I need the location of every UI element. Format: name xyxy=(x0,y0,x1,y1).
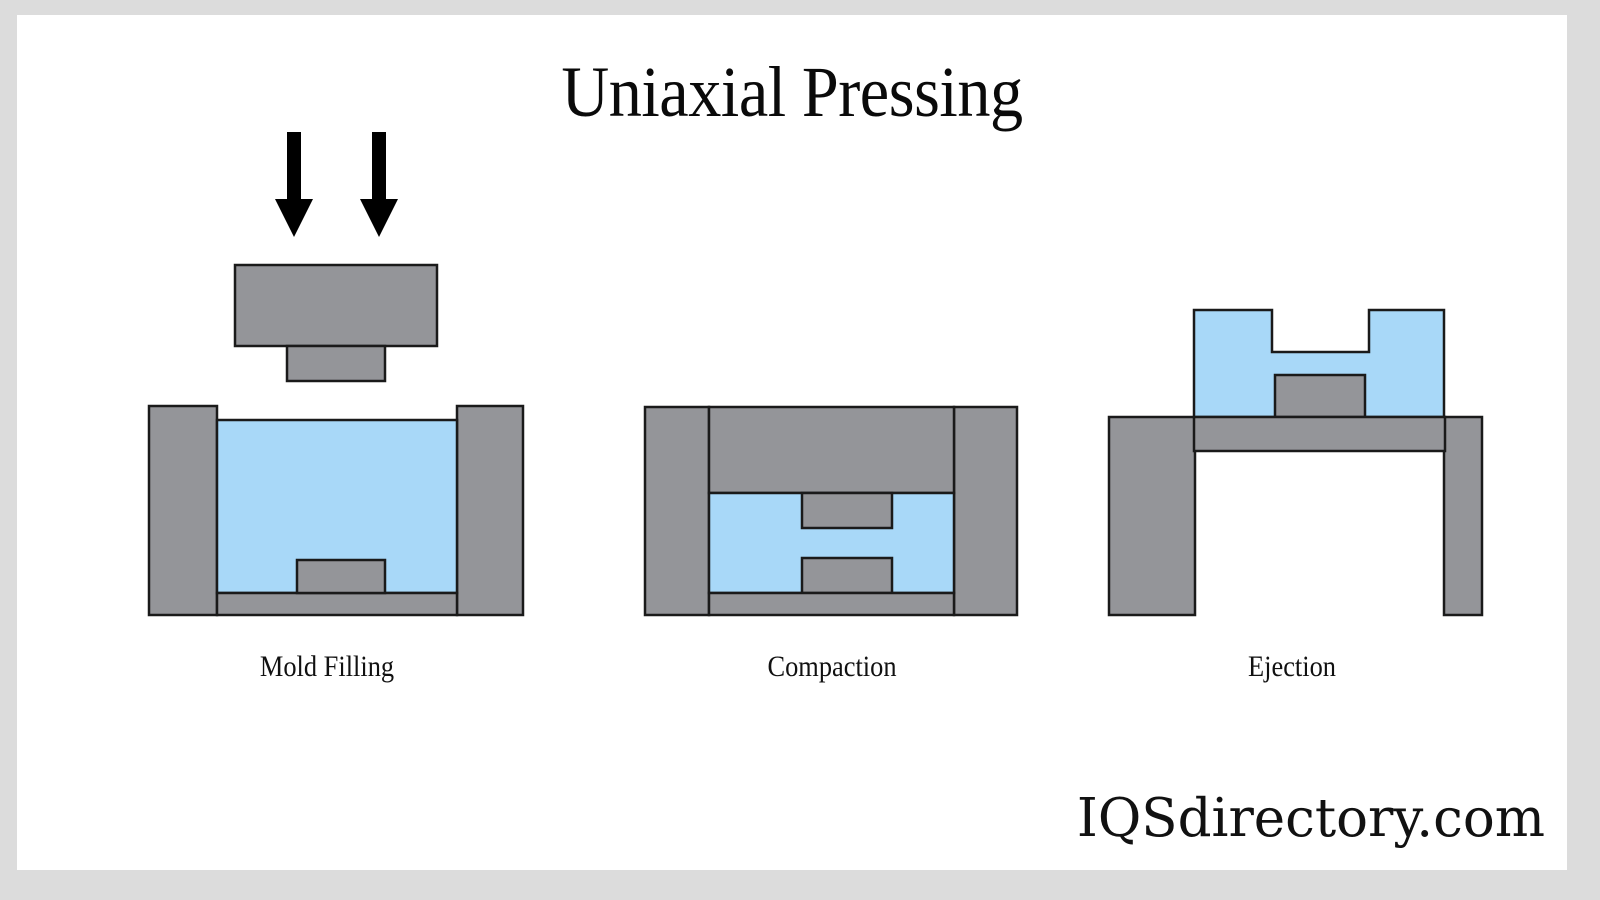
caption-compaction: Compaction xyxy=(634,650,1030,684)
caption-mold-filling: Mold Filling xyxy=(129,650,525,684)
figure-canvas: Uniaxial Pressing xyxy=(17,15,1567,870)
watermark: IQSdirectory.com xyxy=(1077,790,1545,848)
die-assembly xyxy=(1109,310,1482,615)
core-pin xyxy=(1275,375,1365,417)
lower-punch-platform xyxy=(1194,417,1445,451)
die-wall-right xyxy=(1444,417,1482,615)
figure-root: Uniaxial Pressing xyxy=(0,0,1600,900)
die-wall-left xyxy=(1109,417,1195,615)
caption-ejection: Ejection xyxy=(1094,650,1490,684)
diagram-ejection xyxy=(17,100,1567,645)
